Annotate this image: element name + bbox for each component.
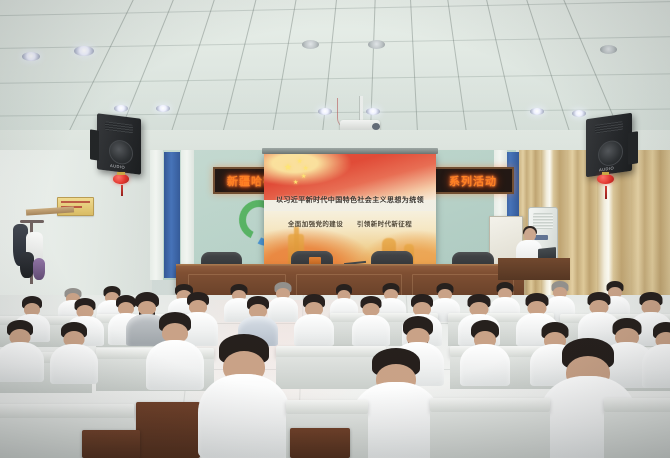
wall-speaker-right: AUDIO [586, 113, 632, 177]
flag-star-icon: ★ [297, 159, 302, 165]
audience-desk [0, 404, 134, 418]
flag-star-icon: ★ [301, 174, 306, 180]
speaker-badge: AUDIO [110, 163, 125, 170]
ceiling-downlight [74, 46, 94, 56]
audience-person [0, 320, 44, 382]
audience-desk [286, 400, 368, 414]
ceiling-downlight [600, 45, 617, 54]
hanging-bag [33, 258, 45, 280]
ac-display-panel [534, 235, 548, 240]
audience-person [50, 322, 98, 384]
wall-speaker-left: AUDIO [97, 113, 141, 174]
ceiling-downlight [368, 40, 385, 49]
ac-grill-icon [533, 213, 553, 229]
red-lantern-left [113, 172, 129, 188]
flag-star-icon: ★ [284, 164, 292, 170]
ceiling-downlight [366, 108, 380, 115]
slide-flag-graphic: ★ ★ ★ ★ ★ [264, 154, 436, 200]
audience-person [642, 322, 670, 388]
ceiling-downlight [114, 105, 128, 112]
slide-subline: 全面加强党的建设 引领新时代新征程 [264, 218, 436, 228]
audience-person [146, 312, 204, 390]
ceiling-downlight [302, 40, 319, 49]
ceiling-downlight [156, 105, 170, 112]
wall-column-blue [164, 152, 180, 278]
staff-desk [498, 258, 570, 280]
ceiling-downlight [572, 110, 586, 117]
flag-star-icon: ★ [293, 180, 298, 186]
led-banner-right-text: 系列活动 [434, 173, 512, 189]
led-banner-right: 系列活动 [432, 167, 514, 194]
audience-desk [430, 398, 550, 412]
audience-chair [136, 402, 200, 458]
hanging-coat [20, 252, 34, 278]
slide-headline: 以习近平新时代中国特色社会主义思想为统领 [264, 195, 436, 205]
projection-screen: ★ ★ ★ ★ ★ 以习近平新时代中国特色社会主义思想为统领 全面加强党的建设 … [264, 154, 436, 264]
audience-chair [82, 430, 140, 458]
wall-column [150, 150, 163, 280]
wall-column [181, 150, 194, 280]
ceiling-downlight [318, 108, 332, 115]
audience-desk [604, 398, 670, 412]
audience-person [352, 296, 390, 346]
audience-person-foreground [198, 334, 290, 458]
flag-star-icon: ★ [303, 166, 308, 172]
ceiling-downlight [22, 52, 40, 61]
audience-person [294, 294, 334, 346]
projector-lens-icon [372, 123, 380, 130]
audience-person [460, 320, 510, 386]
window-curtain [631, 150, 670, 300]
ceiling-downlight [530, 108, 544, 115]
conference-hall-photo: 新疆哈密水 系列活动 ★ ★ ★ ★ ★ 以习近平新时代中国特色社会主义思想为统… [0, 0, 670, 458]
audience-chair [290, 428, 350, 458]
red-lantern-right [597, 172, 614, 189]
